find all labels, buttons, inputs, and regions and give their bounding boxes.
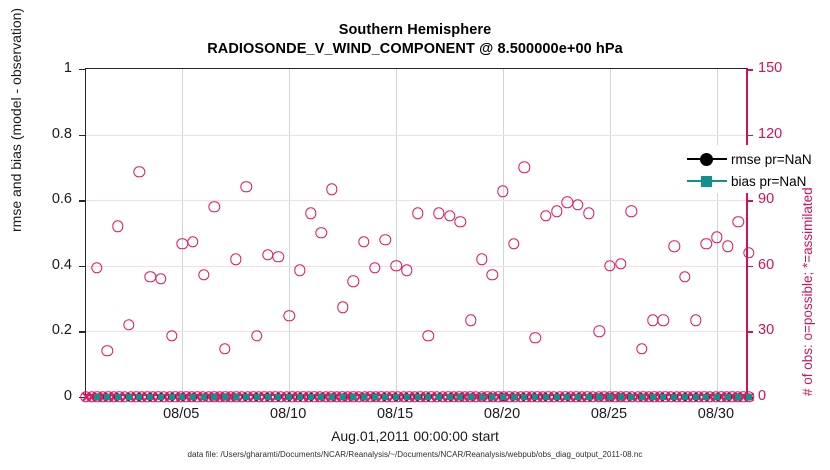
bias-marker <box>500 394 506 400</box>
obs-possible-marker <box>743 247 754 258</box>
bias-marker <box>382 394 388 400</box>
obs-possible-marker <box>508 238 519 249</box>
bias-marker <box>671 394 677 400</box>
bias-marker <box>703 394 709 400</box>
tick-label: 08/30 <box>681 407 751 422</box>
bias-marker <box>586 394 592 400</box>
obs-possible-marker <box>219 343 230 354</box>
obs-possible-marker <box>412 208 423 219</box>
bias-marker <box>318 394 324 400</box>
bias-marker <box>468 394 474 400</box>
obs-possible-marker <box>444 210 455 221</box>
obs-possible-marker <box>112 221 123 232</box>
obs-possible-marker <box>551 205 562 216</box>
obs-possible-marker <box>102 345 113 356</box>
obs-possible-marker <box>733 216 744 227</box>
obs-possible-marker <box>209 201 220 212</box>
obs-possible-marker <box>177 238 188 249</box>
tick-mark <box>79 331 86 332</box>
bias-marker <box>479 394 485 400</box>
obs-possible-marker <box>283 310 294 321</box>
obs-possible-marker <box>647 315 658 326</box>
tick-label: 08/05 <box>146 407 216 422</box>
bias-marker <box>104 394 110 400</box>
obs-possible-marker <box>144 271 155 282</box>
bias-marker <box>725 394 731 400</box>
obs-possible-marker <box>519 162 530 173</box>
bias-marker <box>618 394 624 400</box>
obs-possible-marker <box>262 249 273 260</box>
obs-possible-marker <box>401 264 412 275</box>
obs-possible-marker <box>91 262 102 273</box>
gridline-vertical <box>182 69 183 397</box>
bias-marker <box>489 394 495 400</box>
legend-item-rmse[interactable]: rmse pr=NaN <box>687 149 812 169</box>
tick-label: 0.2 <box>26 323 72 338</box>
legend-label-rmse: rmse pr=NaN <box>731 152 812 167</box>
obs-possible-marker <box>273 251 284 262</box>
obs-possible-marker <box>305 208 316 219</box>
bias-marker <box>543 394 549 400</box>
obs-possible-marker <box>572 199 583 210</box>
obs-possible-marker <box>594 326 605 337</box>
page-title: Southern Hemisphere <box>0 22 830 38</box>
bias-marker <box>243 394 249 400</box>
bias-marker <box>350 394 356 400</box>
tick-label: 150 <box>758 61 798 76</box>
tick-label: 08/15 <box>360 407 430 422</box>
bias-marker <box>340 394 346 400</box>
tick-label: 0.4 <box>26 258 72 273</box>
obs-possible-marker <box>529 332 540 343</box>
rmse-legend-swatch <box>687 152 727 166</box>
bias-marker <box>393 394 399 400</box>
obs-possible-marker <box>540 210 551 221</box>
obs-possible-marker <box>658 315 669 326</box>
tick-label: 60 <box>758 258 798 273</box>
page-subtitle: RADIOSONDE_V_WIND_COMPONENT @ 8.500000e+… <box>0 41 830 57</box>
bias-marker <box>275 394 281 400</box>
bias-marker <box>201 394 207 400</box>
bias-marker <box>372 394 378 400</box>
tick-label: 90 <box>758 192 798 207</box>
bias-marker <box>746 394 752 400</box>
bias-marker <box>415 394 421 400</box>
obs-possible-marker <box>615 258 626 269</box>
bias-marker <box>457 394 463 400</box>
obs-possible-marker <box>241 181 252 192</box>
bias-marker <box>179 394 185 400</box>
gridline-vertical <box>396 69 397 397</box>
obs-possible-marker <box>626 205 637 216</box>
tick-label: 0 <box>758 389 798 404</box>
obs-possible-marker <box>583 208 594 219</box>
tick-label: 30 <box>758 323 798 338</box>
obs-possible-marker <box>155 273 166 284</box>
obs-possible-marker <box>326 184 337 195</box>
bias-marker <box>511 394 517 400</box>
bias-marker <box>158 394 164 400</box>
obs-possible-marker <box>337 302 348 313</box>
tick-label: 08/20 <box>467 407 537 422</box>
legend[interactable]: rmse pr=NaN bias pr=NaN <box>682 145 830 193</box>
bias-marker <box>297 394 303 400</box>
obs-possible-marker <box>294 264 305 275</box>
bias-marker <box>575 394 581 400</box>
bias-marker <box>714 394 720 400</box>
bias-marker <box>639 394 645 400</box>
obs-possible-marker <box>562 197 573 208</box>
bias-marker <box>628 394 634 400</box>
bias-marker <box>233 394 239 400</box>
gridline-vertical <box>503 69 504 397</box>
obs-possible-marker <box>166 330 177 341</box>
bias-legend-swatch <box>687 174 727 188</box>
tick-label: 1 <box>26 61 72 76</box>
obs-possible-marker <box>123 319 134 330</box>
gridline-horizontal <box>86 200 749 201</box>
obs-possible-marker <box>722 240 733 251</box>
obs-possible-marker <box>476 254 487 265</box>
tick-mark <box>746 69 753 71</box>
bias-marker <box>115 394 121 400</box>
tick-mark <box>746 200 753 202</box>
filled-square-icon <box>701 176 712 187</box>
x-axis-title: Aug.01,2011 00:00:00 start <box>0 428 830 444</box>
bias-marker <box>532 394 538 400</box>
tick-mark <box>746 266 753 268</box>
obs-possible-marker <box>422 330 433 341</box>
tick-mark <box>79 200 86 201</box>
bias-marker <box>265 394 271 400</box>
tick-mark <box>79 266 86 267</box>
bias-marker <box>329 394 335 400</box>
obs-possible-marker <box>358 236 369 247</box>
bias-marker <box>650 394 656 400</box>
bias-marker <box>425 394 431 400</box>
obs-possible-marker <box>701 238 712 249</box>
tick-label: 08/10 <box>253 407 323 422</box>
obs-possible-marker <box>487 269 498 280</box>
tick-mark <box>79 135 86 136</box>
bias-marker <box>436 394 442 400</box>
legend-item-bias[interactable]: bias pr=NaN <box>687 171 806 191</box>
bias-marker <box>190 394 196 400</box>
obs-possible-marker <box>134 166 145 177</box>
tick-mark <box>79 69 86 70</box>
gridline-vertical <box>289 69 290 397</box>
tick-label: 0.8 <box>26 126 72 141</box>
bias-marker <box>308 394 314 400</box>
bias-marker <box>126 394 132 400</box>
obs-possible-marker <box>433 208 444 219</box>
tick-label: 0 <box>26 389 72 404</box>
gridline-horizontal <box>86 135 749 136</box>
gridline-vertical <box>610 69 611 397</box>
obs-possible-marker <box>187 236 198 247</box>
bias-marker <box>693 394 699 400</box>
bias-marker <box>521 394 527 400</box>
bias-marker <box>136 394 142 400</box>
bias-marker <box>222 394 228 400</box>
data-file-caption: data file: /Users/gharamti/Documents/NCA… <box>0 450 830 459</box>
bias-marker <box>286 394 292 400</box>
obs-possible-marker <box>198 269 209 280</box>
obs-possible-marker <box>679 271 690 282</box>
tick-label: 08/25 <box>574 407 644 422</box>
obs-possible-marker <box>230 254 241 265</box>
obs-possible-marker <box>636 343 647 354</box>
left-axis-title: rmse and bias (model - observation) <box>8 8 24 232</box>
bias-marker <box>596 394 602 400</box>
plot-canvas: Southern Hemisphere RADIOSONDE_V_WIND_CO… <box>0 0 830 470</box>
bias-marker <box>94 394 100 400</box>
bias-marker <box>254 394 260 400</box>
bias-marker <box>169 394 175 400</box>
obs-possible-marker <box>316 227 327 238</box>
obs-possible-marker <box>251 330 262 341</box>
obs-possible-marker <box>497 186 508 197</box>
gridline-horizontal <box>86 266 749 267</box>
plot-area: rmse pr=NaN bias pr=NaN <box>85 68 748 396</box>
bias-marker <box>735 394 741 400</box>
right-axis-title: # of obs: o=possible; *=assimilated <box>800 187 815 396</box>
tick-label: 0.6 <box>26 192 72 207</box>
legend-label-bias: bias pr=NaN <box>731 174 806 189</box>
bias-marker <box>404 394 410 400</box>
gridline-horizontal <box>86 331 749 332</box>
obs-possible-marker <box>465 315 476 326</box>
filled-circle-icon <box>700 153 713 166</box>
obs-possible-marker <box>455 216 466 227</box>
bias-marker <box>682 394 688 400</box>
tick-mark <box>746 135 753 137</box>
tick-mark <box>746 331 753 333</box>
bias-marker <box>607 394 613 400</box>
obs-possible-marker <box>380 234 391 245</box>
bias-marker <box>660 394 666 400</box>
bias-marker <box>554 394 560 400</box>
obs-possible-marker <box>668 240 679 251</box>
obs-possible-marker <box>690 315 701 326</box>
obs-possible-marker <box>390 260 401 271</box>
tick-label: 120 <box>758 126 798 141</box>
bias-marker <box>361 394 367 400</box>
bias-marker <box>564 394 570 400</box>
obs-possible-marker <box>369 262 380 273</box>
obs-possible-marker <box>604 260 615 271</box>
bias-marker <box>147 394 153 400</box>
bias-marker <box>447 394 453 400</box>
bias-marker <box>211 394 217 400</box>
obs-possible-marker <box>348 275 359 286</box>
obs-possible-marker <box>711 232 722 243</box>
